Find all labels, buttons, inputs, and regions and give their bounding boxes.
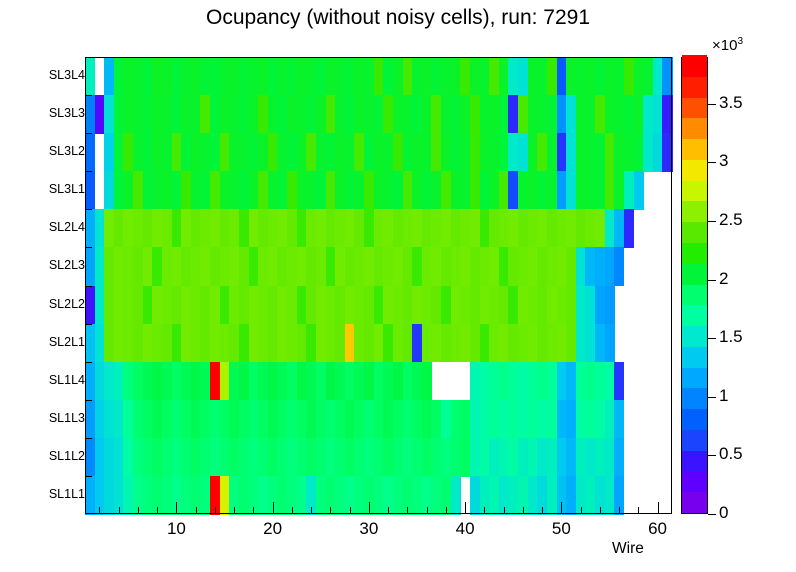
y-axis-tick (85, 133, 92, 134)
y-axis-tick (85, 400, 92, 401)
heatmap-cell (605, 324, 615, 363)
x-axis-minor-tick (638, 507, 639, 514)
x-axis-tick-label: 30 (339, 519, 399, 539)
y-axis-label-sl3l4: SL3L4 (27, 69, 85, 82)
colorbar-tick (708, 104, 716, 105)
heatmap-plot-area[interactable] (85, 57, 672, 514)
heatmap-cell (662, 57, 672, 96)
heatmap-cell (662, 133, 672, 172)
heatmap-cell (422, 362, 432, 401)
heatmap-cell (614, 438, 624, 477)
colorbar-exponent-base: ×10 (712, 37, 737, 54)
x-axis-minor-tick (138, 507, 139, 514)
y-axis: SL3L4SL3L3SL3L2SL3L1SL2L4SL2L3SL2L2SL2L1… (20, 57, 85, 514)
colorbar-step (682, 55, 707, 76)
heatmap-cell (634, 171, 644, 210)
x-axis-minor-tick (350, 507, 351, 514)
heatmap-cell (85, 133, 95, 172)
heatmap-cell (662, 95, 672, 134)
heatmap-cell (451, 476, 461, 515)
x-axis-minor-tick (600, 507, 601, 514)
colorbar[interactable] (681, 57, 708, 514)
y-axis-tick (85, 95, 92, 96)
colorbar-step (682, 180, 707, 201)
colorbar-tick (708, 221, 716, 222)
heatmap-cell (614, 362, 624, 401)
x-axis-major-tick (176, 502, 177, 514)
root-canvas: Ocupancy (without noisy cells), run: 729… (0, 0, 796, 572)
y-axis-label-sl2l3: SL2L3 (27, 259, 85, 272)
x-axis-minor-tick (330, 507, 331, 514)
colorbar-tick-label: 0 (719, 504, 728, 521)
x-axis-minor-tick (157, 507, 158, 514)
x-axis-minor-tick (311, 507, 312, 514)
x-axis-title: Wire (612, 540, 644, 558)
colorbar-tick-label: 3 (719, 152, 728, 169)
heatmap-cell (614, 247, 624, 286)
y-axis-tick (85, 171, 92, 172)
colorbar-step (682, 139, 707, 160)
x-axis-minor-tick (523, 507, 524, 514)
x-axis-minor-tick (99, 507, 100, 514)
y-axis-tick (85, 362, 92, 363)
colorbar-step (682, 471, 707, 492)
x-axis-minor-tick (253, 507, 254, 514)
x-axis-minor-tick (407, 507, 408, 514)
y-axis-label-sl2l2: SL2L2 (27, 298, 85, 311)
colorbar-step (682, 409, 707, 430)
chart-title: Ocupancy (without noisy cells), run: 729… (0, 6, 796, 30)
y-axis-label-sl3l3: SL3L3 (27, 107, 85, 120)
colorbar-step (682, 388, 707, 409)
x-axis-major-tick (465, 502, 466, 514)
x-axis-minor-tick (388, 507, 389, 514)
x-axis-minor-tick (215, 507, 216, 514)
y-axis-label-sl2l4: SL2L4 (27, 221, 85, 234)
y-axis-tick (85, 324, 92, 325)
heatmap-cell (85, 171, 95, 210)
colorbar-step (682, 263, 707, 284)
colorbar-step (682, 159, 707, 180)
x-axis-minor-tick (234, 507, 235, 514)
y-axis-label-sl1l2: SL1L2 (27, 450, 85, 463)
colorbar-tick-label: 2 (719, 270, 728, 287)
colorbar-step (682, 325, 707, 346)
x-axis-minor-tick (196, 507, 197, 514)
x-axis-minor-tick (119, 507, 120, 514)
x-axis-minor-tick (427, 507, 428, 514)
colorbar-tick (708, 455, 716, 456)
colorbar-step (682, 492, 707, 513)
colorbar-exponent-power: 3 (737, 36, 743, 47)
x-axis-major-tick (273, 502, 274, 514)
x-axis-minor-tick (484, 507, 485, 514)
colorbar-tick (708, 280, 716, 281)
colorbar-tick (708, 162, 716, 163)
y-axis-tick (85, 209, 92, 210)
y-axis-label-sl1l4: SL1L4 (27, 374, 85, 387)
y-axis-tick (85, 476, 92, 477)
colorbar-tick (708, 397, 716, 398)
x-axis-tick-label: 10 (146, 519, 206, 539)
colorbar-tick-label: 1 (719, 387, 728, 404)
heatmap-cell (85, 57, 95, 96)
colorbar-tick (708, 338, 716, 339)
colorbar-tick-label: 0.5 (719, 445, 743, 462)
x-axis-tick-label: 40 (435, 519, 495, 539)
x-axis-major-tick (561, 502, 562, 514)
x-axis-major-tick (658, 502, 659, 514)
heatmap-cell (624, 209, 634, 248)
colorbar-step (682, 201, 707, 222)
colorbar-step (682, 284, 707, 305)
x-axis-minor-tick (292, 507, 293, 514)
x-axis-tick-label: 60 (628, 519, 688, 539)
x-axis-minor-tick (542, 507, 543, 514)
x-axis-tick-label: 50 (531, 519, 591, 539)
colorbar-step (682, 97, 707, 118)
x-axis-minor-tick (446, 507, 447, 514)
colorbar-step (682, 346, 707, 367)
y-axis-label-sl2l1: SL2L1 (27, 336, 85, 349)
colorbar-exponent: ×103 (712, 36, 743, 54)
colorbar-step (682, 305, 707, 326)
colorbar-step (682, 118, 707, 139)
colorbar-step (682, 76, 707, 97)
y-axis-tick (85, 438, 92, 439)
x-axis-minor-tick (504, 507, 505, 514)
y-axis-label-sl3l2: SL3L2 (27, 145, 85, 158)
colorbar-tick (708, 514, 716, 515)
colorbar-step (682, 429, 707, 450)
y-axis-tick (85, 247, 92, 248)
colorbar-tick-label: 3.5 (719, 94, 743, 111)
x-axis-tick-label: 20 (243, 519, 303, 539)
x-axis-minor-tick (619, 507, 620, 514)
colorbar-step (682, 222, 707, 243)
heatmap-cell (614, 400, 624, 439)
colorbar-step (682, 450, 707, 471)
heatmap-cell (605, 286, 615, 325)
colorbar-step (682, 367, 707, 388)
y-axis-tick (85, 286, 92, 287)
y-axis-label-sl1l3: SL1L3 (27, 412, 85, 425)
colorbar-tick-label: 1.5 (719, 328, 743, 345)
y-axis-label-sl1l1: SL1L1 (27, 488, 85, 501)
x-axis-minor-tick (581, 507, 582, 514)
colorbar-step (682, 242, 707, 263)
y-axis-label-sl3l1: SL3L1 (27, 183, 85, 196)
colorbar-tick-label: 2.5 (719, 211, 743, 228)
x-axis-major-tick (369, 502, 370, 514)
